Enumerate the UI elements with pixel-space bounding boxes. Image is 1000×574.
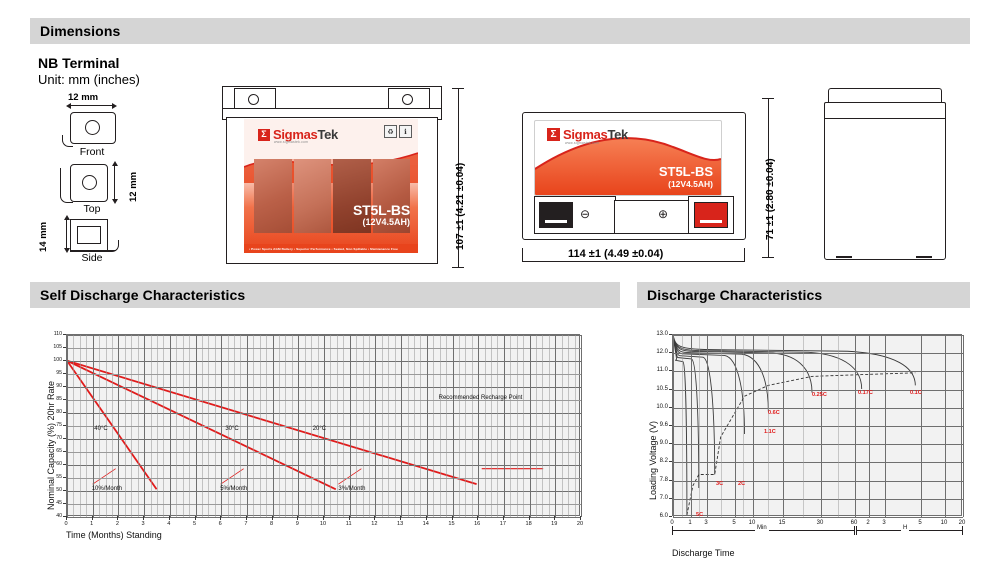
x-axis-tick-label: 15 [442,521,462,527]
gridline-vertical [673,335,674,517]
gridline-vertical [581,335,582,517]
x-axis-tickmark [297,516,298,520]
gridline-vertical-minor [743,335,744,517]
gridline-vertical-minor [215,335,216,517]
gridline-vertical [945,335,946,517]
y-axis-tickmark [63,490,66,491]
discharge-rate-label: 2C [738,481,745,487]
gridline-vertical [298,335,299,517]
discharge-curve [673,335,715,475]
gridline-vertical-minor [202,335,203,517]
discharge-rate-label: 0.25C [812,392,827,398]
chart-annotation: 10%/Month [92,486,122,492]
gridline-vertical-minor [138,335,139,517]
x-axis-tickmark [92,516,93,520]
gridline-horizontal [673,408,963,409]
gridline-vertical [453,335,454,517]
self-discharge-xlabel: Time (Months) Standing [66,530,162,540]
x-axis-tickmark [169,516,170,520]
gridline-vertical [273,335,274,517]
gridline-vertical-minor [330,335,331,517]
y-axis-tickmark [63,347,66,348]
x-axis-tick-label: 13 [390,521,410,527]
gridline-vertical [144,335,145,517]
x-axis-tick-label: 16 [467,521,487,527]
gridline-vertical [753,335,754,517]
x-axis-tick-label: 4 [159,521,179,527]
gridline-vertical [555,335,556,517]
discharge-rate-label: 1.1C [764,429,776,435]
gridline-vertical-minor [485,335,486,517]
self-discharge-plot-area [66,334,580,516]
self-discharge-chart: Nominal Capacity (%) 20hr Rate Time (Mon… [0,0,620,574]
gridline-vertical-minor [542,335,543,517]
gridline-vertical-minor [433,335,434,517]
gridline-vertical-minor [285,335,286,517]
gridline-vertical-minor [838,335,839,517]
gridline-vertical-minor [260,335,261,517]
gridline-vertical-minor [510,335,511,517]
gridline-vertical-minor [395,335,396,517]
y-axis-tick-label: 6.0 [646,513,668,519]
gridline-vertical-minor [446,335,447,517]
x-axis-tick-label: 5 [911,520,929,526]
gridline-vertical-minor [183,335,184,517]
gridline-vertical-minor [253,335,254,517]
discharge-xlabel: Discharge Time [672,548,735,558]
gridline-horizontal [673,517,963,518]
gridline-vertical-minor [176,335,177,517]
y-axis-tick-label: 11.0 [646,367,668,373]
x-axis-tickmark [246,516,247,520]
y-axis-tickmark [669,461,672,462]
x-axis-tick-label: 12 [364,521,384,527]
chart-annotation: Recommended Recharge Point [439,395,523,401]
gridline-horizontal [673,371,963,372]
x-axis-tick-label: 15 [773,520,791,526]
gridline-vertical [530,335,531,517]
x-axis-tick-label: 17 [493,521,513,527]
x-axis-tick-label: 5 [185,521,205,527]
x-axis-tickmark [143,516,144,520]
gridline-vertical-minor [440,335,441,517]
x-axis-tick-label: 6 [210,521,230,527]
y-axis-tick-label: 65 [42,448,62,454]
x-axis-tickmark [452,516,453,520]
discharge-curves [673,335,961,515]
gridline-vertical [67,335,68,517]
gridline-vertical-minor [131,335,132,517]
gridline-vertical-minor [337,335,338,517]
y-axis-tick-label: 9.6 [646,422,668,428]
gridline-vertical-minor [420,335,421,517]
y-axis-tick-label: 7.0 [646,495,668,501]
y-axis-tickmark [63,360,66,361]
gridline-vertical [504,335,505,517]
gridline-vertical-minor [568,335,569,517]
gridline-vertical-minor [305,335,306,517]
y-axis-tickmark [63,425,66,426]
gridline-vertical-minor [721,335,722,517]
gridline-horizontal [673,353,963,354]
gridline-vertical [691,335,692,517]
x-axis-tickmark [374,516,375,520]
discharge-rate-label: 5C [696,512,703,518]
discharge-curve [673,335,687,515]
gridline-vertical-minor [768,335,769,517]
x-axis-tick-label: 8 [262,521,282,527]
x-axis-tick-label: 3 [697,520,715,526]
x-axis-tick-label: 2 [107,521,127,527]
gridline-vertical [885,335,886,517]
y-axis-tickmark [63,399,66,400]
gridline-vertical-minor [86,335,87,517]
y-axis-tickmark [669,425,672,426]
gridline-vertical-minor [575,335,576,517]
x-axis-tickmark [503,516,504,520]
gridline-horizontal [673,499,963,500]
discharge-chart: Loading Voltage (V) Discharge Time 13.01… [620,0,1000,574]
y-axis-tick-label: 95 [42,370,62,376]
x-axis-tick-label: 10 [935,520,953,526]
discharge-plot-area [672,334,962,516]
y-axis-tickmark [669,334,672,335]
gridline-vertical-minor [472,335,473,517]
gridline-vertical-minor [408,335,409,517]
y-axis-tick-label: 10.0 [646,404,668,410]
y-axis-tick-label: 110 [42,331,62,337]
y-axis-tick-label: 13.0 [646,331,668,337]
y-axis-tick-label: 9.0 [646,440,668,446]
x-axis-tickmark [477,516,478,520]
gridline-vertical [196,335,197,517]
x-axis-tickmark [426,516,427,520]
y-axis-tick-label: 40 [42,513,62,519]
gridline-vertical-minor [536,335,537,517]
y-axis-tick-label: 55 [42,474,62,480]
y-axis-tick-label: 85 [42,396,62,402]
x-axis-tick-label: 3 [875,520,893,526]
gridline-horizontal [673,335,963,336]
chart-annotation: 30°C [225,426,238,432]
y-axis-tick-label: 50 [42,487,62,493]
y-axis-tick-label: 90 [42,383,62,389]
gridline-vertical [869,335,870,517]
x-axis-tick-label: 20 [570,521,590,527]
gridline-vertical-minor [414,335,415,517]
gridline-vertical [735,335,736,517]
x-axis-tickmark [272,516,273,520]
discharge-rate-label: 0.17C [858,390,873,396]
axis-group-cap [672,526,673,535]
gridline-horizontal [673,462,963,463]
x-axis-tick-label: 30 [811,520,829,526]
gridline-vertical [963,335,964,517]
y-axis-tickmark [63,373,66,374]
gridline-vertical-minor [465,335,466,517]
x-axis-tick-label: 10 [313,521,333,527]
gridline-vertical [821,335,822,517]
y-axis-tickmark [63,464,66,465]
x-axis-tickmark [529,516,530,520]
y-axis-tickmark [669,498,672,499]
x-axis-tickmark [323,516,324,520]
x-axis-tick-label: 1 [82,521,102,527]
gridline-vertical-minor [549,335,550,517]
y-axis-tickmark [669,407,672,408]
y-axis-tick-label: 80 [42,409,62,415]
gridline-vertical-minor [459,335,460,517]
y-axis-tickmark [669,480,672,481]
gridline-vertical-minor [699,335,700,517]
chart-annotation: 40°C [94,426,107,432]
y-axis-tickmark [63,451,66,452]
x-axis-tick-label: 11 [339,521,359,527]
gridline-vertical-minor [279,335,280,517]
gridline-vertical-minor [562,335,563,517]
x-axis-tickmark [117,516,118,520]
x-axis-tickmark [400,516,401,520]
x-axis-tickmark [554,516,555,520]
y-axis-tick-label: 45 [42,500,62,506]
y-axis-tickmark [63,412,66,413]
y-axis-tick-label: 100 [42,357,62,363]
y-axis-tickmark [63,386,66,387]
y-axis-tickmark [63,438,66,439]
chart-annotation: 3%/Month [338,486,365,492]
y-axis-tickmark [669,516,672,517]
axis-group-label: Min [755,525,769,531]
axis-group-cap [962,526,963,535]
gridline-vertical [375,335,376,517]
x-axis-tickmark [66,516,67,520]
discharge-rate-label: 0.1C [910,390,922,396]
gridline-vertical [401,335,402,517]
x-axis-tick-label: 3 [133,521,153,527]
gridline-vertical-minor [292,335,293,517]
gridline-vertical [707,335,708,517]
discharge-rate-label: 3C [716,481,723,487]
gridline-vertical-minor [80,335,81,517]
gridline-vertical-minor [382,335,383,517]
axis-group-cap [856,526,857,535]
axis-group-label: H [901,525,909,531]
x-axis-tick-label: 7 [236,521,256,527]
gridline-vertical [427,335,428,517]
y-axis-tickmark [63,477,66,478]
gridline-horizontal [67,517,581,518]
y-axis-tickmark [669,370,672,371]
x-axis-tick-label: 18 [519,521,539,527]
x-axis-tick-label: 19 [544,521,564,527]
gridline-horizontal [673,426,963,427]
x-axis-tickmark [580,516,581,520]
gridline-vertical-minor [497,335,498,517]
y-axis-tickmark [669,443,672,444]
gridline-vertical-minor [157,335,158,517]
y-axis-tick-label: 8.2 [646,458,668,464]
y-axis-tick-label: 12.0 [646,349,668,355]
gridline-vertical-minor [523,335,524,517]
gridline-vertical-minor [311,335,312,517]
gridline-vertical [783,335,784,517]
gridline-vertical-minor [491,335,492,517]
x-axis-tick-label: 5 [725,520,743,526]
y-axis-tickmark [669,389,672,390]
y-axis-tickmark [63,503,66,504]
gridline-vertical-minor [803,335,804,517]
y-axis-tick-label: 70 [42,435,62,441]
gridline-vertical-minor [189,335,190,517]
gridline-vertical-minor [208,335,209,517]
gridline-vertical-minor [517,335,518,517]
gridline-vertical-minor [151,335,152,517]
x-axis-tickmark [195,516,196,520]
gridline-vertical-minor [163,335,164,517]
gridline-vertical-minor [266,335,267,517]
discharge-curve [673,335,915,385]
gridline-vertical-minor [369,335,370,517]
gridline-vertical-minor [388,335,389,517]
y-axis-tickmark [669,352,672,353]
gridline-vertical [170,335,171,517]
x-axis-tickmark [220,516,221,520]
y-axis-tickmark [63,334,66,335]
chart-annotation: 5%/Month [220,486,247,492]
axis-group-cap [854,526,855,535]
y-axis-tick-label: 60 [42,461,62,467]
gridline-vertical [921,335,922,517]
chart-annotation: 20°C [313,426,326,432]
gridline-horizontal [673,444,963,445]
gridline-vertical-minor [73,335,74,517]
y-axis-tick-label: 7.8 [646,477,668,483]
discharge-rate-label: 0.6C [768,410,780,416]
x-axis-tick-label: 0 [56,521,76,527]
y-axis-tick-label: 10.5 [646,386,668,392]
gridline-vertical-minor [682,335,683,517]
x-axis-tick-label: 14 [416,521,436,527]
x-axis-tickmark [349,516,350,520]
x-axis-tick-label: 9 [287,521,307,527]
gridline-vertical [855,335,856,517]
y-axis-tick-label: 105 [42,344,62,350]
y-axis-tick-label: 75 [42,422,62,428]
gridline-vertical [478,335,479,517]
gridline-vertical-minor [125,335,126,517]
